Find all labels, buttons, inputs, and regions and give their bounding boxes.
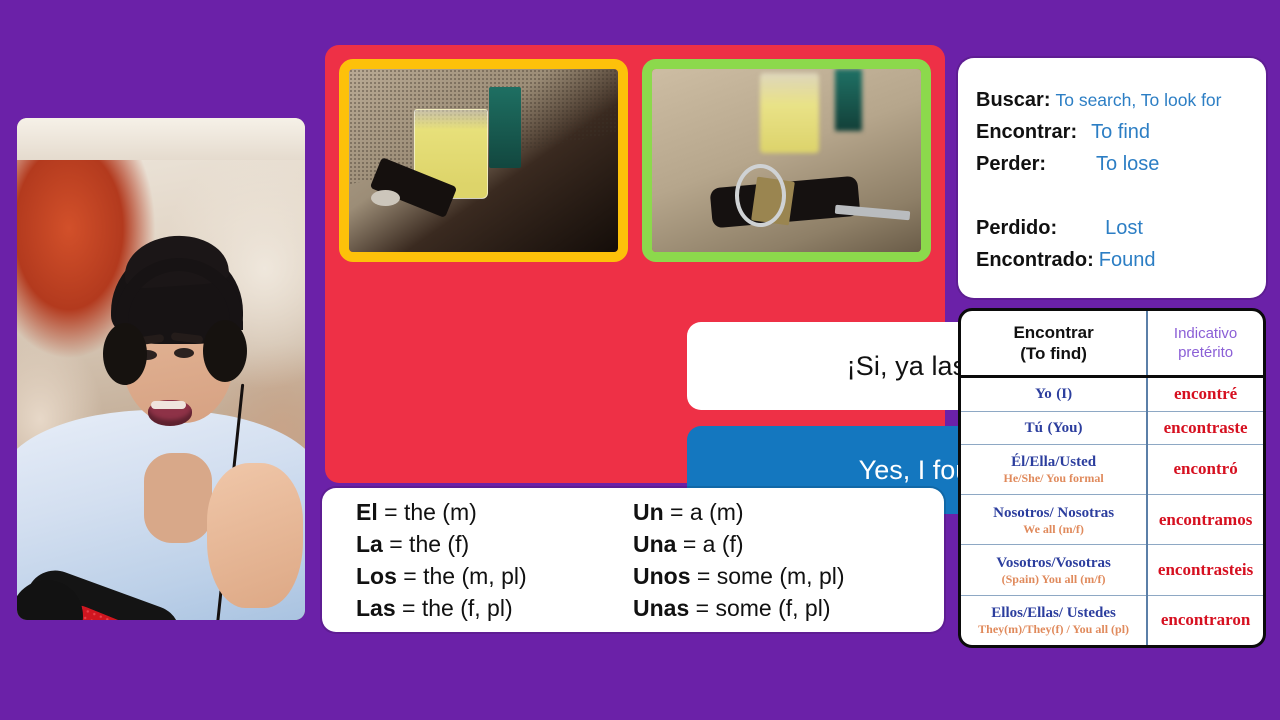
article-word: Las bbox=[356, 595, 396, 621]
conjugation-form: encontraste bbox=[1164, 418, 1248, 437]
article-word: El bbox=[356, 499, 378, 525]
conjugation-form: encontramos bbox=[1159, 510, 1252, 529]
conjugation-pronoun-en: (Spain) You all (m/f) bbox=[963, 572, 1144, 586]
photo-row bbox=[339, 59, 931, 262]
conjugation-pronoun: Ellos/Ellas/ Ustedes bbox=[991, 605, 1116, 621]
host-webcam-video bbox=[17, 118, 305, 620]
vocab-definition: Found bbox=[1099, 244, 1156, 276]
conjugation-form: encontré bbox=[1174, 384, 1237, 403]
conjugation-pronoun-en: He/She/ You formal bbox=[963, 471, 1144, 485]
conjugation-tense-cell: Indicativo pretérito bbox=[1147, 311, 1263, 377]
vocab-term: Perdido: bbox=[976, 212, 1057, 244]
vocab-definition: Lost bbox=[1105, 212, 1143, 244]
conjugation-row: Él/Ella/Usted He/She/ You formal encontr… bbox=[961, 444, 1263, 494]
conjugation-row: Yo (I) encontré bbox=[961, 377, 1263, 412]
article-row: Las = the (f, pl) bbox=[356, 592, 633, 624]
webcam-hand bbox=[207, 463, 303, 608]
article-word: La bbox=[356, 531, 383, 557]
article-row: Unos = some (m, pl) bbox=[633, 560, 910, 592]
photo-left bbox=[339, 59, 628, 262]
conjugation-form: encontraron bbox=[1161, 610, 1250, 629]
lemonade-glass-blurred bbox=[760, 73, 819, 154]
webcam-teeth bbox=[151, 401, 186, 409]
vocabulary-card: Buscar: To search, To look for Encontrar… bbox=[958, 58, 1266, 298]
article-word: Los bbox=[356, 563, 397, 589]
headphone-earcup-right bbox=[203, 320, 247, 382]
lesson-red-panel: ¡Si, ya las encontré! Yes, I found them! bbox=[325, 45, 945, 483]
conjugation-pronoun: Yo bbox=[1035, 386, 1052, 402]
conjugation-table-card: Encontrar (To find) Indicativo pretérito… bbox=[958, 308, 1266, 648]
conjugation-row: Vosotros/Vosotras (Spain) You all (m/f) … bbox=[961, 545, 1263, 595]
conjugation-verb-cell: Encontrar (To find) bbox=[961, 311, 1147, 377]
vocab-row: Encontrado: Found bbox=[976, 244, 1266, 276]
conjugation-form-cell: encontró bbox=[1147, 444, 1263, 494]
conjugation-pronoun: Vosotros/Vosotras bbox=[996, 555, 1110, 571]
vocab-term: Buscar: bbox=[976, 84, 1050, 116]
photo-right-image bbox=[652, 69, 921, 252]
conjugation-pronoun-cell: Él/Ella/Usted He/She/ You formal bbox=[961, 444, 1147, 494]
article-word: Una bbox=[633, 531, 676, 557]
conjugation-row: Ellos/Ellas/ Ustedes They(m)/They(f) / Y… bbox=[961, 595, 1263, 645]
article-row: La = the (f) bbox=[356, 528, 633, 560]
conjugation-form: encontrasteis bbox=[1158, 560, 1253, 579]
article-word: Unos bbox=[633, 563, 691, 589]
vocab-row: Buscar: To search, To look for bbox=[976, 84, 1266, 116]
article-meaning: = the (m) bbox=[378, 499, 477, 525]
article-meaning: = a (m) bbox=[664, 499, 744, 525]
vocab-term: Encontrar: bbox=[976, 116, 1077, 148]
vocab-row: Perder: To lose bbox=[976, 148, 1266, 180]
conjugation-pronoun-cell: Vosotros/Vosotras (Spain) You all (m/f) bbox=[961, 545, 1147, 595]
vocab-definition: To search, To look for bbox=[1055, 84, 1221, 116]
conjugation-pronoun-en: (I) bbox=[1056, 386, 1072, 402]
article-word: Unas bbox=[633, 595, 689, 621]
vocab-row: Encontrar: To find bbox=[976, 116, 1266, 148]
article-meaning: = some (f, pl) bbox=[689, 595, 830, 621]
conjugation-form-cell: encontraste bbox=[1147, 411, 1263, 444]
conjugation-tense-line2: pretérito bbox=[1150, 343, 1261, 362]
conjugation-pronoun-cell: Yo (I) bbox=[961, 377, 1147, 412]
vocab-definition: To lose bbox=[1096, 148, 1159, 180]
conjugation-row: Tú (You) encontraste bbox=[961, 411, 1263, 444]
vocab-term: Encontrado: bbox=[976, 244, 1094, 276]
slide-root: ¡Si, ya las encontré! Yes, I found them!… bbox=[0, 0, 1280, 720]
conjugation-form-cell: encontramos bbox=[1147, 495, 1263, 545]
conjugation-pronoun-en: They(m)/They(f) / You all (pl) bbox=[963, 622, 1144, 636]
webcam-neck bbox=[144, 453, 212, 543]
bottle-blurred bbox=[835, 69, 862, 131]
article-meaning: = some (m, pl) bbox=[691, 563, 845, 589]
articles-definite-column: El = the (m) La = the (f) Los = the (m, … bbox=[356, 496, 633, 624]
vocab-spacer bbox=[976, 180, 1266, 212]
conjugation-pronoun: Él/Ella/Usted bbox=[1011, 454, 1096, 470]
conjugation-form-cell: encontraron bbox=[1147, 595, 1263, 645]
conjugation-verb: Encontrar bbox=[963, 322, 1144, 343]
vocab-definition: To find bbox=[1091, 116, 1150, 148]
vocab-row: Perdido: Lost bbox=[976, 212, 1266, 244]
article-row: Los = the (m, pl) bbox=[356, 560, 633, 592]
conjugation-table: Encontrar (To find) Indicativo pretérito… bbox=[961, 311, 1263, 645]
photo-right bbox=[642, 59, 931, 262]
conjugation-tense-line1: Indicativo bbox=[1150, 324, 1261, 343]
conjugation-header-row: Encontrar (To find) Indicativo pretérito bbox=[961, 311, 1263, 377]
article-row: Una = a (f) bbox=[633, 528, 910, 560]
conjugation-row: Nosotros/ Nosotras We all (m/f) encontra… bbox=[961, 495, 1263, 545]
conjugation-verb-translation: (To find) bbox=[963, 343, 1144, 364]
photo-left-image bbox=[349, 69, 618, 252]
conjugation-pronoun-en: (You) bbox=[1047, 420, 1082, 436]
vocab-term: Perder: bbox=[976, 148, 1046, 180]
conjugation-pronoun-cell: Ellos/Ellas/ Ustedes They(m)/They(f) / Y… bbox=[961, 595, 1147, 645]
article-meaning: = a (f) bbox=[676, 531, 743, 557]
conjugation-pronoun: Tú bbox=[1025, 420, 1043, 436]
article-word: Un bbox=[633, 499, 664, 525]
conjugation-pronoun-cell: Tú (You) bbox=[961, 411, 1147, 444]
conjugation-form-cell: encontrasteis bbox=[1147, 545, 1263, 595]
bottle bbox=[489, 87, 521, 168]
webcam-eye-right bbox=[174, 348, 194, 358]
conjugation-pronoun-cell: Nosotros/ Nosotras We all (m/f) bbox=[961, 495, 1147, 545]
conjugation-form: encontró bbox=[1173, 459, 1237, 478]
key-blade bbox=[835, 205, 911, 221]
conjugation-pronoun: Nosotros/ Nosotras bbox=[993, 505, 1114, 521]
webcam-ceiling bbox=[17, 118, 305, 160]
article-row: Unas = some (f, pl) bbox=[633, 592, 910, 624]
article-meaning: = the (m, pl) bbox=[397, 563, 527, 589]
article-row: El = the (m) bbox=[356, 496, 633, 528]
articles-card: El = the (m) La = the (f) Los = the (m, … bbox=[322, 488, 944, 632]
article-meaning: = the (f, pl) bbox=[396, 595, 513, 621]
article-meaning: = the (f) bbox=[383, 531, 469, 557]
articles-indefinite-column: Un = a (m) Una = a (f) Unos = some (m, p… bbox=[633, 496, 910, 624]
article-row: Un = a (m) bbox=[633, 496, 910, 528]
key-fob-tag bbox=[371, 190, 401, 206]
conjugation-pronoun-en: We all (m/f) bbox=[963, 522, 1144, 536]
conjugation-form-cell: encontré bbox=[1147, 377, 1263, 412]
